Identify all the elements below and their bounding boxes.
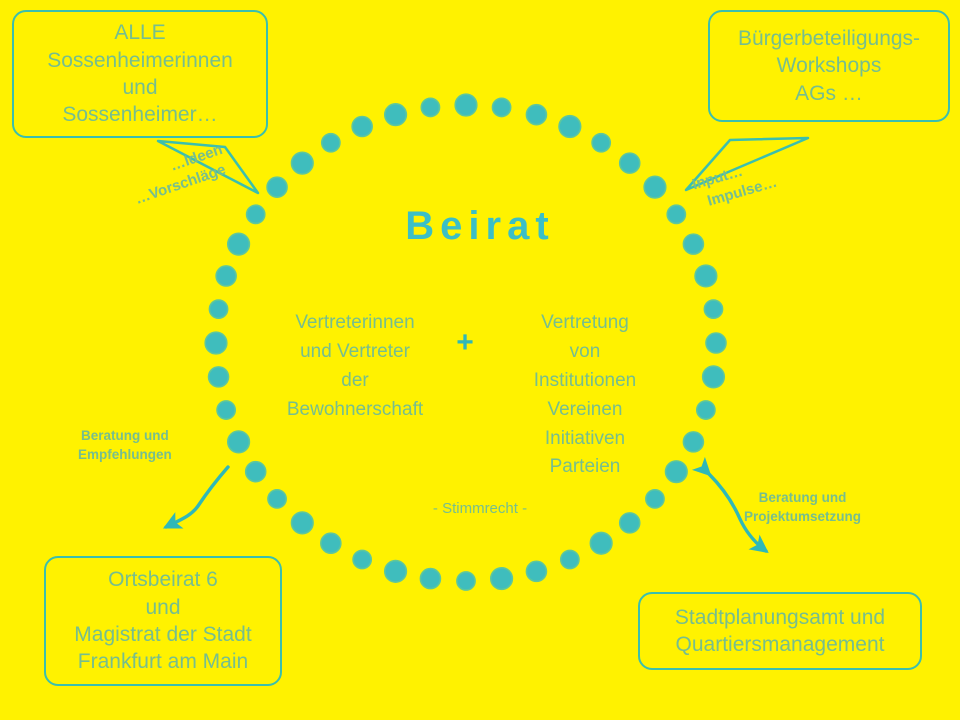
column-residents-line-2: und Vertreter xyxy=(262,338,448,367)
box-stadtplanungsamt-line-2: Quartiersmanagement xyxy=(676,631,885,658)
ring-dot xyxy=(697,401,715,419)
plus-icon: + xyxy=(452,330,478,356)
bubble-workshops-line-2: Workshops xyxy=(777,52,882,79)
box-ortsbeirat-line-1: Ortsbeirat 6 xyxy=(108,566,218,593)
column-residents-line-1: Vertreterinnen xyxy=(262,309,448,338)
ring-dot xyxy=(246,462,266,482)
diagram-canvas: ALLE Sossenheimerinnen und Sossenheimer…… xyxy=(0,0,960,720)
box-ortsbeirat-line-3: Magistrat der Stadt xyxy=(74,621,251,648)
ring-dot xyxy=(420,569,440,589)
ring-dot xyxy=(353,550,371,568)
ring-dot xyxy=(385,104,407,126)
ring-dot xyxy=(216,266,236,286)
ring-dot xyxy=(385,561,407,583)
curved-arrow-icon xyxy=(166,467,228,527)
column-institutions-line-6: Parteien xyxy=(492,453,678,482)
box-ortsbeirat-line-2: und xyxy=(145,594,180,621)
page-title: Beirat xyxy=(0,204,960,249)
ring-dot xyxy=(644,176,666,198)
flow-label-beratung-empfehlungen-line-2: Empfehlungen xyxy=(78,445,172,464)
bubble-citizens-line-1: ALLE xyxy=(114,19,165,46)
ring-dot xyxy=(491,568,513,590)
bubble-citizens-line-2: Sossenheimerinnen xyxy=(47,47,233,74)
ring-dot xyxy=(228,431,250,453)
ring-dot xyxy=(620,153,640,173)
column-residents-line-4: Bewohnerschaft xyxy=(262,396,448,425)
flow-label-beratung-projektumsetzung-line-1: Beratung und xyxy=(744,488,861,507)
ring-dot xyxy=(321,533,341,553)
ring-dot xyxy=(683,432,703,452)
bubble-citizens-line-4: Sossenheimer… xyxy=(62,101,217,128)
bubble-citizens[interactable]: ALLE Sossenheimerinnen und Sossenheimer… xyxy=(12,10,268,138)
column-institutions-line-1: Vertretung xyxy=(492,309,678,338)
ring-dot xyxy=(592,134,610,152)
ring-dot xyxy=(352,117,372,137)
ring-dot xyxy=(205,332,227,354)
ring-dot xyxy=(703,366,725,388)
ring-dot xyxy=(590,532,612,554)
ring-dot xyxy=(492,98,510,116)
ring-dot xyxy=(267,177,287,197)
box-stadtplanungsamt-line-1: Stadtplanungsamt und xyxy=(675,604,885,631)
ring-dot xyxy=(217,401,235,419)
ring-dot xyxy=(322,134,340,152)
ring-dot xyxy=(559,116,581,138)
bubble-citizens-line-3: und xyxy=(122,74,157,101)
box-stadtplanungsamt[interactable]: Stadtplanungsamt und Quartiersmanagement xyxy=(638,592,922,670)
ring-dot xyxy=(695,265,717,287)
column-institutions: Vertretung von Institutionen Vereinen In… xyxy=(492,309,678,482)
column-institutions-line-2: von xyxy=(492,338,678,367)
column-institutions-line-5: Initiativen xyxy=(492,425,678,454)
column-residents-line-3: der xyxy=(262,367,448,396)
bubble-workshops-line-1: Bürgerbeteiligungs- xyxy=(738,25,920,52)
flow-label-ideen: …Ideen …Vorschläge xyxy=(126,140,232,210)
column-residents: Vertreterinnen und Vertreter der Bewohne… xyxy=(262,309,448,425)
ring-dot xyxy=(706,333,726,353)
bubble-workshops[interactable]: Bürgerbeteiligungs- Workshops AGs … xyxy=(708,10,950,122)
flow-label-beratung-projektumsetzung-line-2: Projektumsetzung xyxy=(744,507,861,526)
ring-dot xyxy=(561,550,579,568)
bubble-workshops-line-3: AGs … xyxy=(795,80,863,107)
column-institutions-line-4: Vereinen xyxy=(492,396,678,425)
flow-label-beratung-empfehlungen: Beratung und Empfehlungen xyxy=(78,426,172,464)
ring-dot xyxy=(526,105,546,125)
box-ortsbeirat[interactable]: Ortsbeirat 6 und Magistrat der Stadt Fra… xyxy=(44,556,282,686)
ring-dot xyxy=(457,572,475,590)
ring-dot xyxy=(209,300,227,318)
ring-dot xyxy=(421,98,439,116)
flow-label-beratung-projektumsetzung: Beratung und Projektumsetzung xyxy=(744,488,861,526)
ring-dot xyxy=(209,367,229,387)
flow-label-beratung-empfehlungen-line-1: Beratung und xyxy=(78,426,172,445)
box-ortsbeirat-line-4: Frankfurt am Main xyxy=(78,648,248,675)
ring-dot xyxy=(704,300,722,318)
ring-dot xyxy=(526,561,546,581)
ring-dot xyxy=(455,94,477,116)
column-institutions-line-3: Institutionen xyxy=(492,367,678,396)
ring-dot xyxy=(291,152,313,174)
